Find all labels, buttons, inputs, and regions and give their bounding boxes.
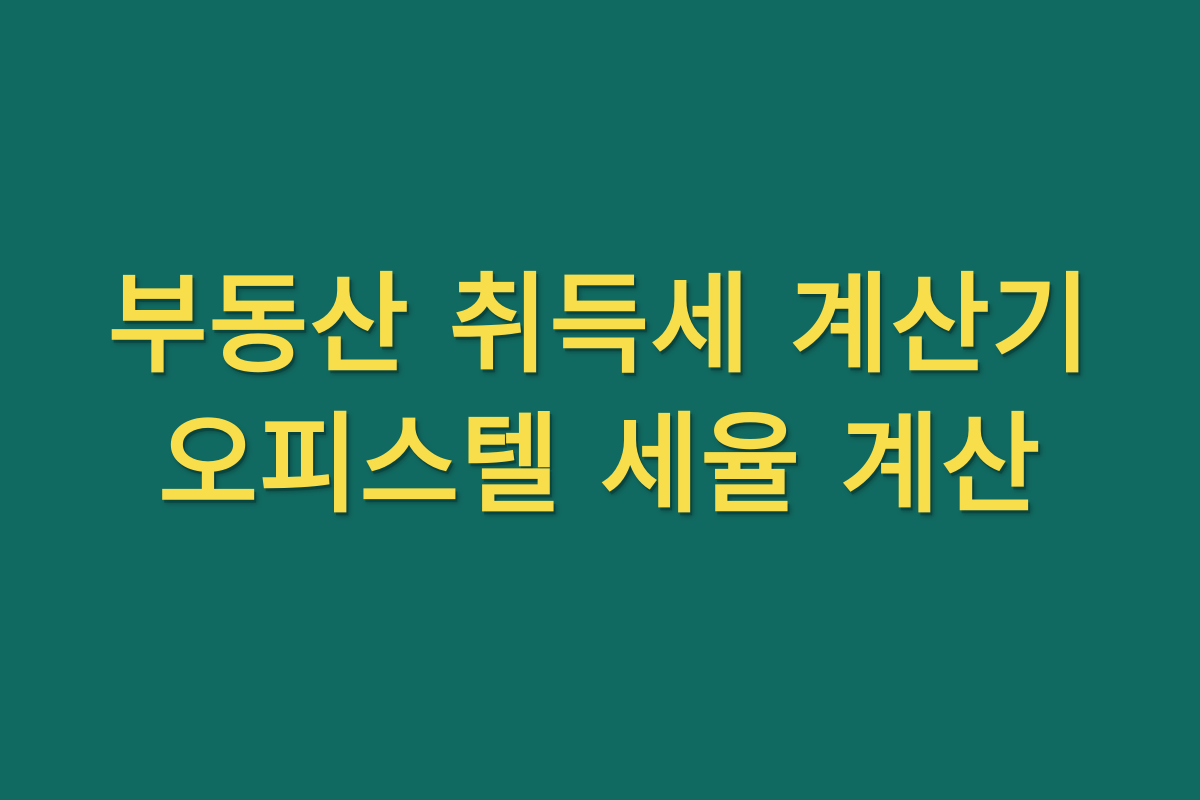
headline-line-1: 부동산 취득세 계산기 [0, 256, 1200, 396]
banner-canvas: 부동산 취득세 계산기 오피스텔 세율 계산 [0, 0, 1200, 800]
headline-line-2: 오피스텔 세율 계산 [0, 396, 1200, 536]
headline-block: 부동산 취득세 계산기 오피스텔 세율 계산 [0, 256, 1200, 537]
